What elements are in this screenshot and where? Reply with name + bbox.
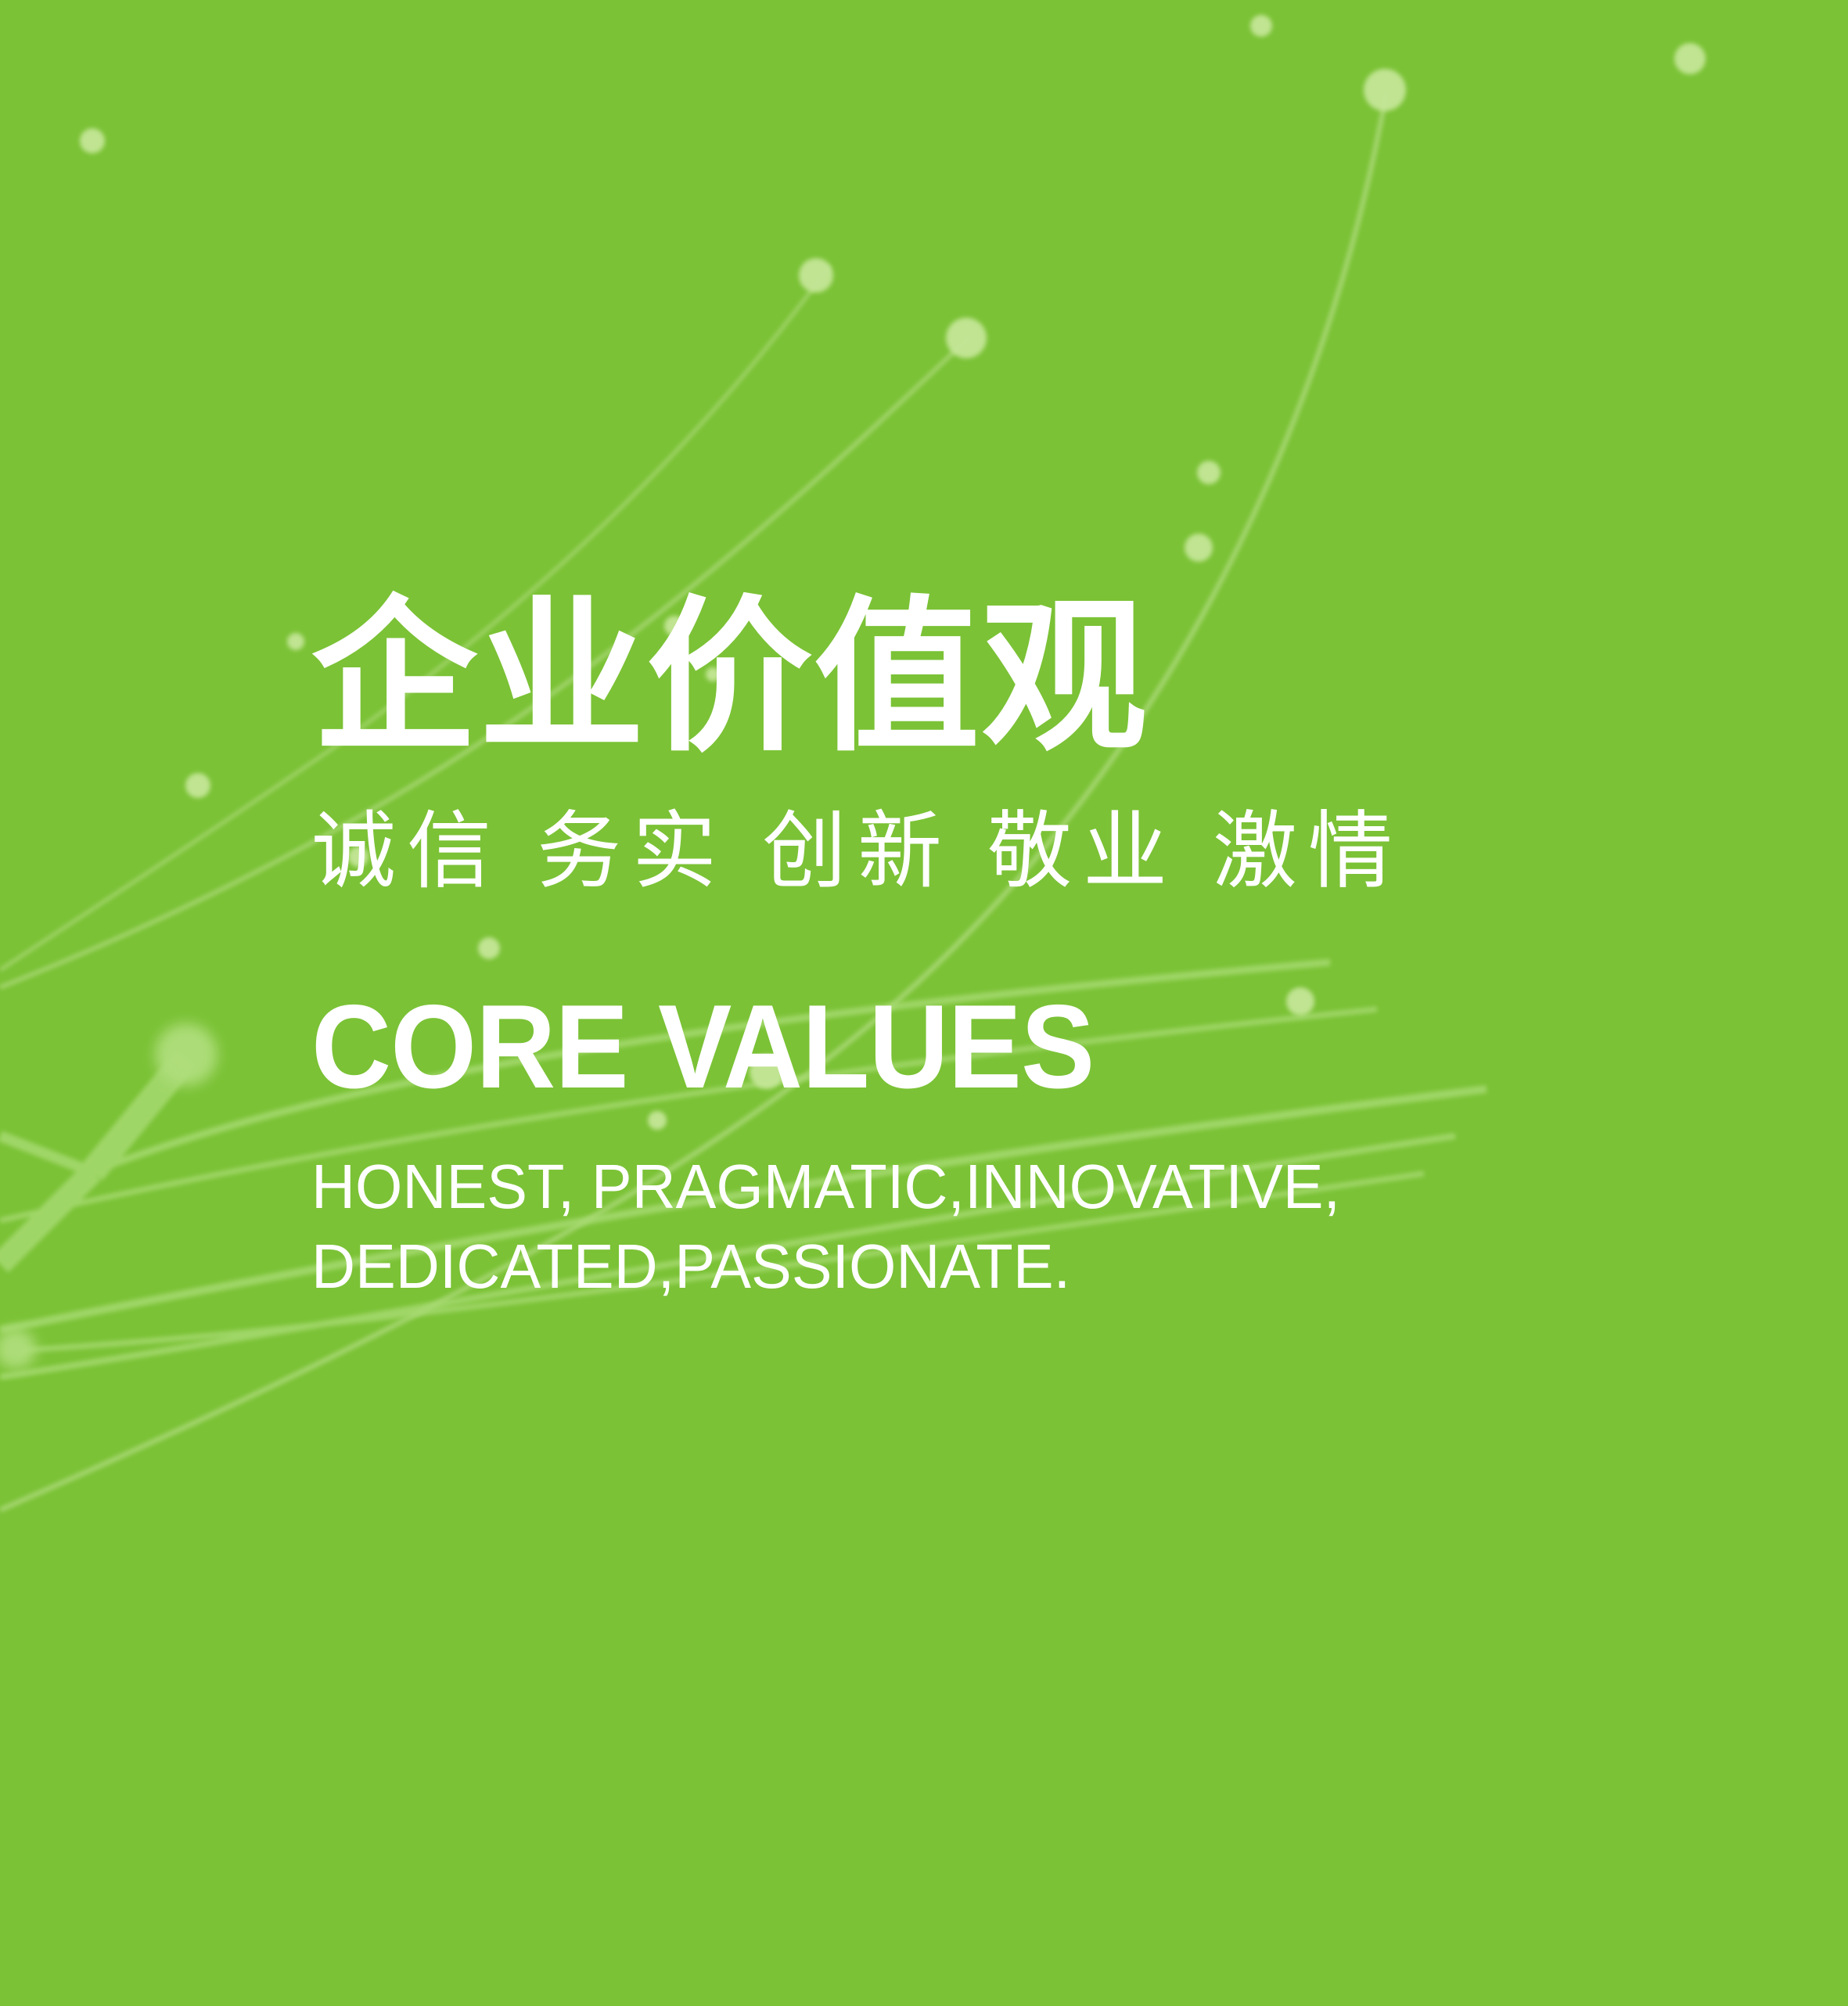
english-body-line-2: DEDICATED,PASSIONATE. — [311, 1227, 1647, 1307]
core-values-poster: 企业价值观 诚信 务实 创新 敬业 激情 CORE VALUES HONEST,… — [0, 0, 1848, 2006]
english-body-line-1: HONEST, PRAGMATIC,INNOVATIVE, — [311, 1147, 1647, 1227]
poster-text-block: 企业价值观 诚信 务实 创新 敬业 激情 CORE VALUES HONEST,… — [311, 595, 1688, 1307]
chinese-subtitle: 诚信 务实 创新 敬业 激情 — [311, 809, 1688, 893]
chinese-title: 企业价值观 — [311, 595, 1688, 760]
network-nodes-large — [0, 1023, 218, 1369]
english-body: HONEST, PRAGMATIC,INNOVATIVE, DEDICATED,… — [311, 1147, 1688, 1307]
english-title: CORE VALUES — [311, 987, 1592, 1106]
